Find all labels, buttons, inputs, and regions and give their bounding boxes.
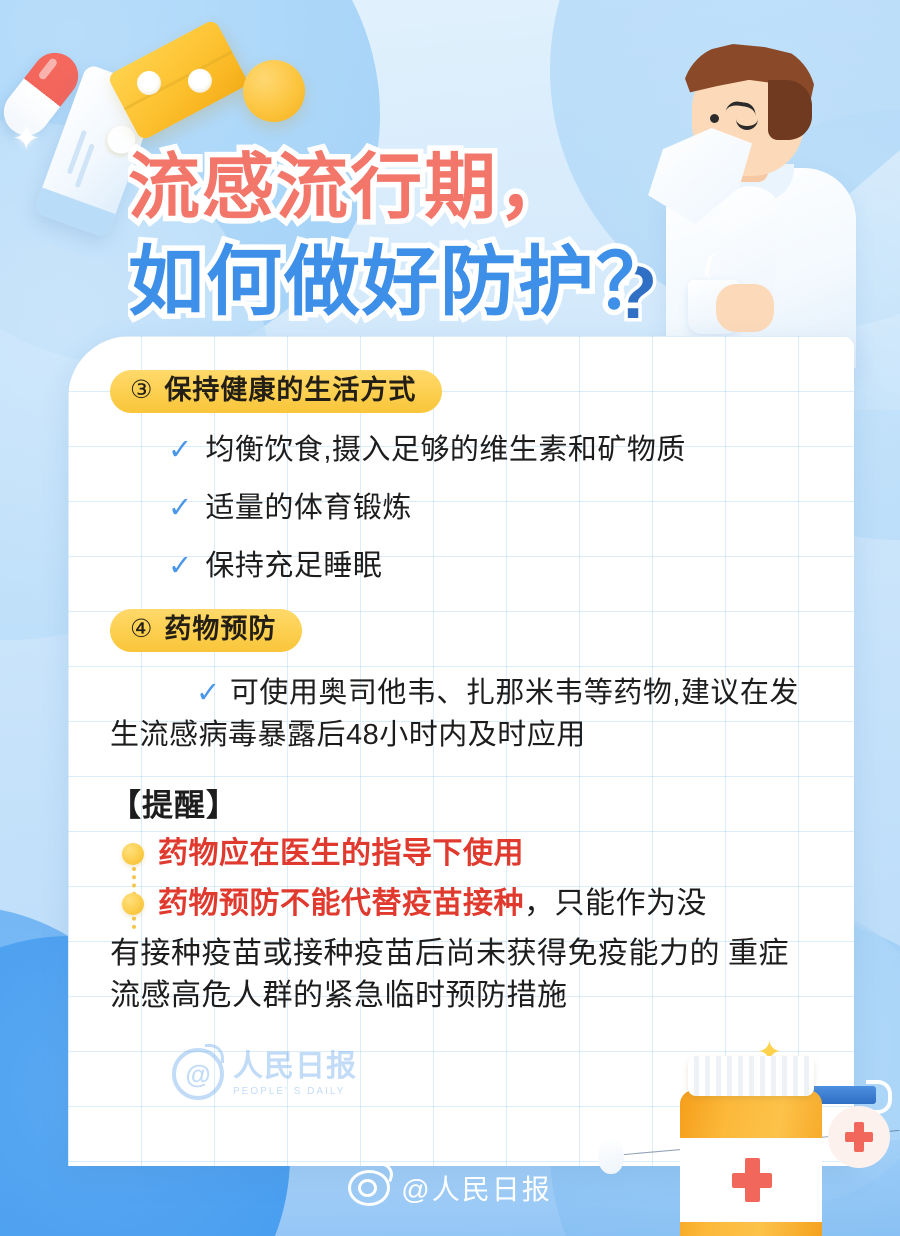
section-number-3: ③ — [130, 378, 152, 403]
weibo-icon[interactable] — [348, 1170, 390, 1206]
watermark-name-en: PEOPLE' S DAILY — [233, 1086, 357, 1097]
reminder-item-text: 药物预防不能代替疫苗接种，只能作为没 — [158, 883, 707, 925]
section-title-3: 保持健康的生活方式 — [164, 377, 416, 404]
section-header-3: ③ 保持健康的生活方式 — [110, 370, 442, 413]
list-item: ✓ 均衡饮食,摄入足够的维生素和矿物质 — [168, 435, 816, 467]
medicine-bottle-icon — [680, 1056, 822, 1236]
section-title-4: 药物预防 — [164, 616, 276, 643]
footer-handle[interactable]: @人民日报 — [401, 1168, 551, 1208]
title-svg: 流感流行期， 如何做好防护？ — [128, 140, 688, 330]
page-title: 流感流行期， 如何做好防护？ — [128, 140, 688, 335]
list-item-text: 适量的体育锻炼 — [205, 493, 412, 525]
sparkle-icon: ✦ — [12, 122, 41, 156]
check-icon: ✓ — [168, 435, 192, 465]
list-item: 药物预防不能代替疫苗接种，只能作为没 — [110, 883, 816, 925]
boy-hand — [716, 284, 774, 332]
red-cross-badge-icon — [828, 1106, 890, 1168]
reminder-list: 药物应在医生的指导下使用 药物预防不能代替疫苗接种，只能作为没 — [110, 833, 816, 925]
watermark-logo: @ 人民日报 PEOPLE' S DAILY — [172, 1048, 357, 1100]
drug-prevention-paragraph: ✓可使用奥司他韦、扎那米韦等药物,建议在发生流感病毒暴露后48小时内及时应用 — [110, 672, 816, 756]
reminder-tail-text: 有接种疫苗或接种疫苗后尚未获得免疫能力的 重症流感高危人群的紧急临时预防措施 — [110, 933, 816, 1018]
list-item: 药物应在医生的指导下使用 — [110, 833, 816, 875]
list-item: ✓ 保持充足睡眠 — [168, 551, 816, 583]
watermark-name-cn: 人民日报 — [233, 1052, 357, 1082]
check-icon: ✓ — [196, 677, 221, 709]
at-sign-icon: @ — [172, 1048, 224, 1100]
healthy-lifestyle-list: ✓ 均衡饮食,摄入足够的维生素和矿物质 ✓ 适量的体育锻炼 ✓ 保持充足睡眠 — [110, 435, 816, 583]
check-icon: ✓ — [168, 551, 192, 581]
reminder-item-rest: ，只能作为没 — [524, 887, 707, 920]
list-item: ✓ 适量的体育锻炼 — [168, 493, 816, 525]
list-item-text: 均衡饮食,摄入足够的维生素和矿物质 — [205, 435, 686, 467]
reminder-item-highlight: 药物预防不能代替疫苗接种 — [158, 887, 524, 920]
bottle-cap — [688, 1056, 814, 1096]
title-line-2: 如何做好防护？ — [128, 240, 674, 325]
blister-pill — [133, 67, 165, 99]
check-icon: ✓ — [168, 493, 192, 523]
reminder-heading: 【提醒】 — [110, 780, 816, 825]
title-line-1: 流感流行期， — [128, 148, 572, 228]
section-header-4: ④ 药物预防 — [110, 609, 302, 652]
reminder-item-text: 药物应在医生的指导下使用 — [158, 833, 524, 875]
footer-bar: @人民日报 — [0, 1168, 900, 1208]
orange-circle-icon — [243, 60, 305, 122]
reminder-item-highlight: 药物应在医生的指导下使用 — [158, 837, 524, 870]
poster-root: ✦ ? 流感流行期， 如何做好防护？ ③ 保持健康的生活方式 — [0, 0, 900, 1236]
boy-eye — [710, 114, 719, 123]
content-card: ③ 保持健康的生活方式 ✓ 均衡饮食,摄入足够的维生素和矿物质 ✓ 适量的体育锻… — [68, 336, 854, 1166]
blister-pill — [184, 65, 216, 97]
bullet-dot-icon — [122, 893, 144, 915]
bullet-dot-icon — [122, 843, 144, 865]
section-number-4: ④ — [130, 617, 152, 642]
boy-hair-side — [768, 80, 812, 140]
list-item-text: 保持充足睡眠 — [205, 551, 382, 583]
